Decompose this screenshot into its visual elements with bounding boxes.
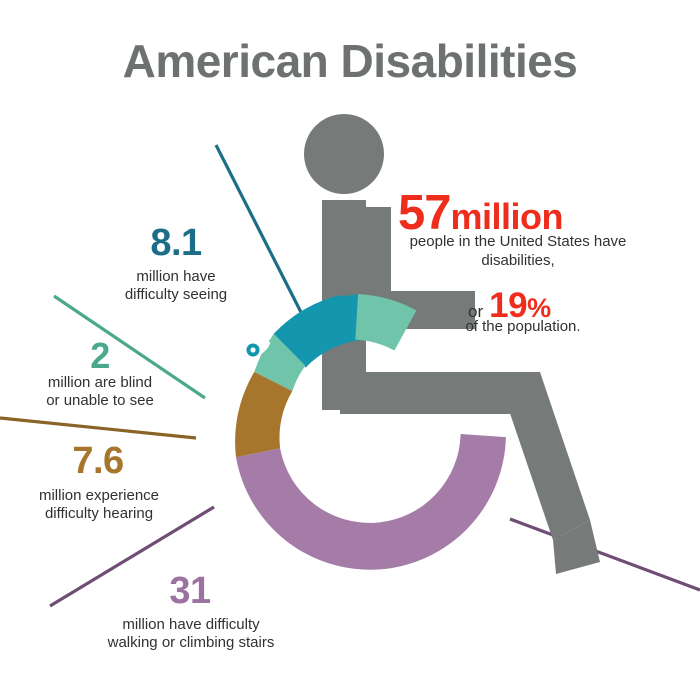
wheelchair-arm xyxy=(355,207,391,299)
wheelchair-leg xyxy=(498,372,590,540)
headline-total-description: people in the United States have disabil… xyxy=(400,232,636,270)
callout-hearing-line1: million experience xyxy=(39,487,159,504)
callout-seeing-number: 8.1 xyxy=(96,222,256,265)
arc-segment-walking xyxy=(236,434,506,570)
leader-line-hearing xyxy=(0,418,196,438)
callout-walking-line2: walking or climbing stairs xyxy=(108,634,275,651)
callout-seeing-line1: million have xyxy=(136,268,215,285)
ear-icon xyxy=(200,463,238,496)
callout-seeing-line2: difficulty seeing xyxy=(125,286,227,303)
callout-hearing-line2: difficulty hearing xyxy=(45,505,153,522)
callout-blind-number: 2 xyxy=(20,335,180,377)
wheelchair-head xyxy=(304,114,384,194)
callout-blind-line1: million are blind xyxy=(48,374,152,391)
callout-walking-description: million have difficulty walking or climb… xyxy=(72,616,310,652)
wheel-arc-group xyxy=(235,294,506,570)
headline-total-unit: million xyxy=(451,196,564,237)
callout-hearing-description: million experience difficulty hearing xyxy=(6,487,192,523)
callout-blind-description: million are blind or unable to see xyxy=(14,374,186,410)
page-title: American Disabilities xyxy=(0,34,700,88)
callout-hearing-number: 7.6 xyxy=(18,440,178,483)
infographic-canvas: American Disabilities 57million people i… xyxy=(0,0,700,700)
callout-blind-line2: or unable to see xyxy=(46,392,154,409)
leader-line-walking-right xyxy=(510,519,700,590)
walking-cane-icon xyxy=(224,525,264,561)
callout-walking-line1: million have difficulty xyxy=(122,616,259,633)
callout-walking-number: 31 xyxy=(100,570,280,613)
headline-percent-description: of the population. xyxy=(406,318,640,335)
callout-seeing-description: million have difficulty seeing xyxy=(86,268,266,304)
